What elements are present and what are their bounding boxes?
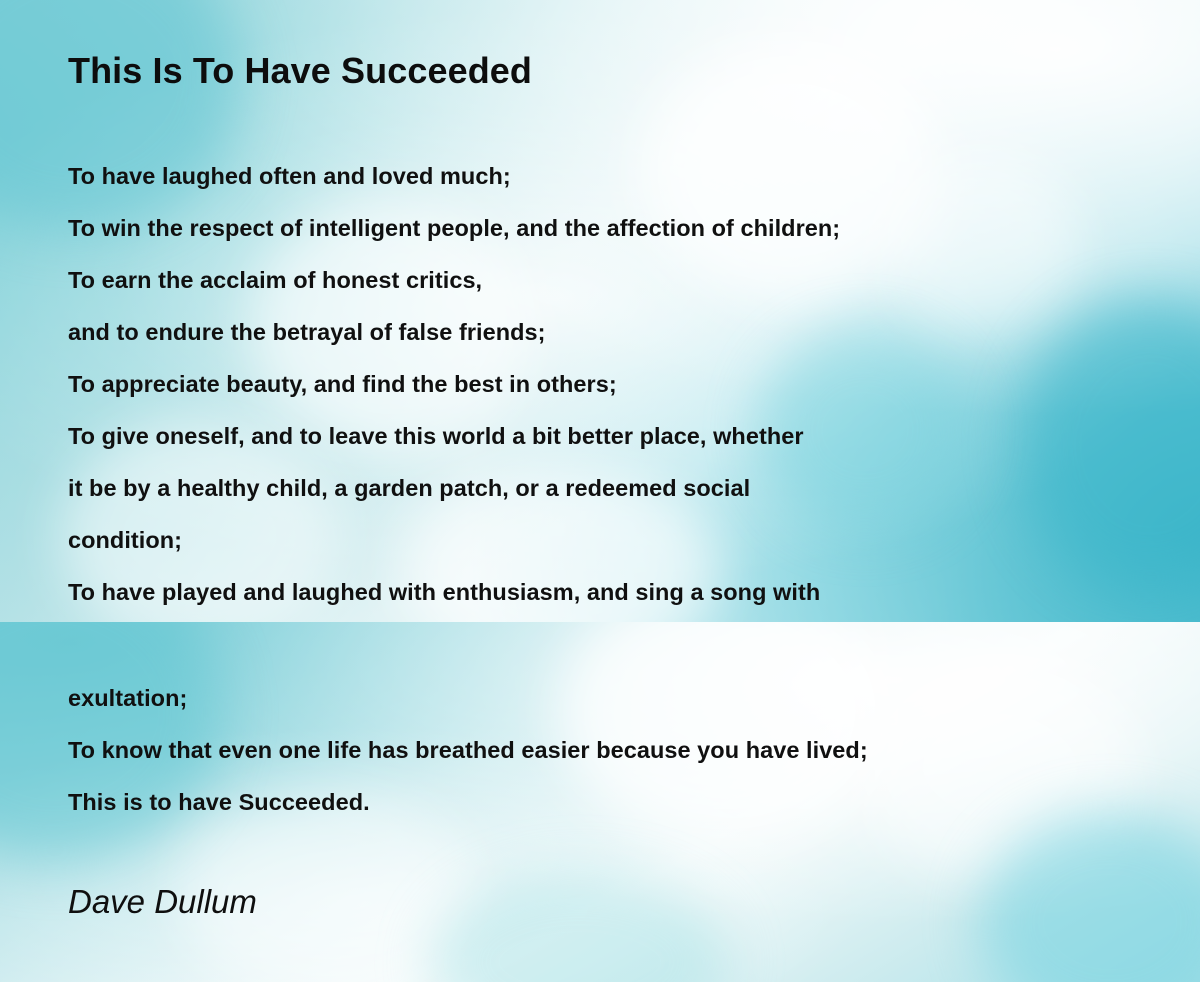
poem-line: To have played and laughed with enthusia… <box>68 566 1178 618</box>
poem-line: it be by a healthy child, a garden patch… <box>68 462 1178 514</box>
poem-stanza-two: exultation; To know that even one life h… <box>68 672 1178 828</box>
poem-line: and to endure the betrayal of false frie… <box>68 306 1178 358</box>
poem-stanza-one: To have laughed often and loved much; To… <box>68 150 1178 618</box>
poem-card: This Is To Have Succeeded To have laughe… <box>0 0 1200 982</box>
page-title: This Is To Have Succeeded <box>68 50 532 92</box>
poem-author: Dave Dullum <box>68 883 257 921</box>
poem-line: To earn the acclaim of honest critics, <box>68 254 1178 306</box>
poem-line: This is to have Succeeded. <box>68 776 1178 828</box>
poem-line: condition; <box>68 514 1178 566</box>
poem-line: To have laughed often and loved much; <box>68 150 1178 202</box>
poem-line: To appreciate beauty, and find the best … <box>68 358 1178 410</box>
poem-line: To know that even one life has breathed … <box>68 724 1178 776</box>
poem-text-layer: This Is To Have Succeeded To have laughe… <box>0 0 1200 982</box>
poem-line: To win the respect of intelligent people… <box>68 202 1178 254</box>
poem-line: exultation; <box>68 672 1178 724</box>
poem-line: To give oneself, and to leave this world… <box>68 410 1178 462</box>
